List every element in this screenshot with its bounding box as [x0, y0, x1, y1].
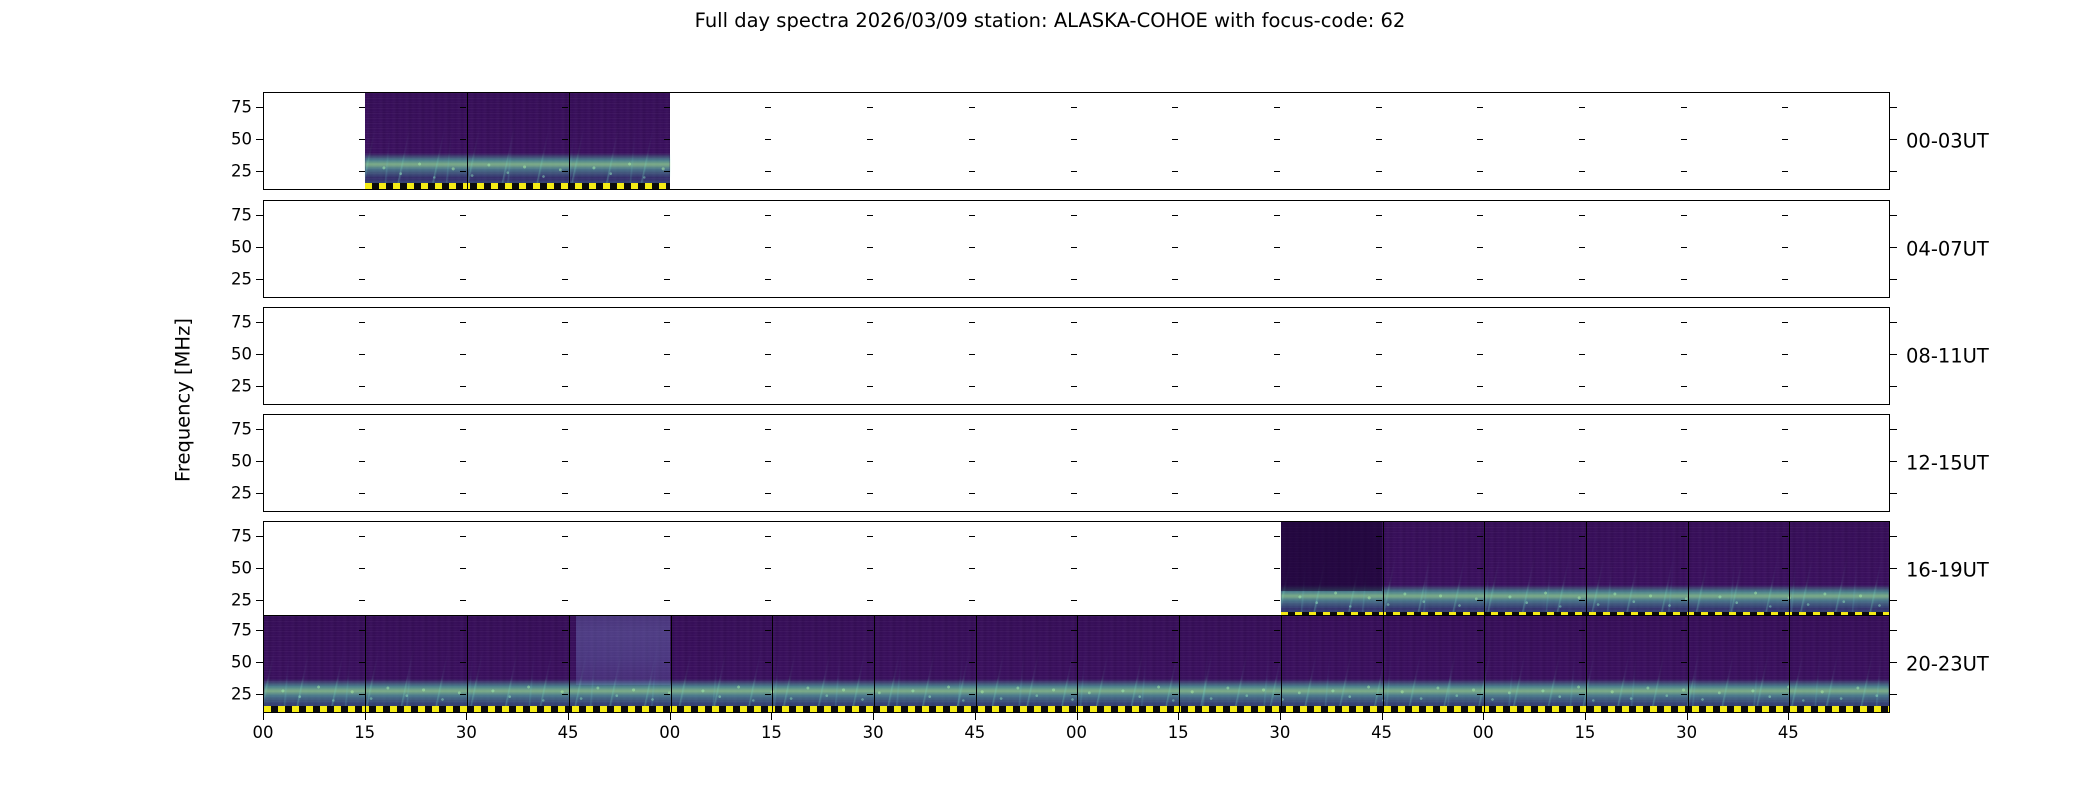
panel-inner-tick: [1274, 600, 1280, 601]
panel-inner-tick: [664, 568, 670, 569]
panel-inner-tick: [562, 600, 568, 601]
y-axis-tick: [256, 247, 263, 248]
panel-inner-tick: [1172, 107, 1178, 108]
panel-inner-tick: [1376, 247, 1382, 248]
x-axis-tick-label: 15: [761, 723, 782, 742]
figure-canvas: Full day spectra 2026/03/09 station: ALA…: [0, 0, 2100, 800]
panel-inner-tick: [765, 215, 771, 216]
panel-inner-tick: [1071, 600, 1077, 601]
panel-inner-tick: [1681, 322, 1687, 323]
panel-inner-tick: [460, 354, 466, 355]
y-axis-tick-label: 25: [208, 483, 252, 502]
panel-inner-tick: [1782, 600, 1788, 601]
panel-inner-tick: [969, 694, 975, 695]
panel-inner-tick: [1376, 279, 1382, 280]
y-axis-tick-label: 25: [208, 376, 252, 395]
panel-inner-tick: [1477, 662, 1483, 663]
x-axis-tick: [263, 713, 264, 720]
panel-inner-tick: [562, 354, 568, 355]
panel-inner-tick: [1274, 386, 1280, 387]
panel-inner-tick: [1172, 461, 1178, 462]
y-axis-tick: [256, 215, 263, 216]
panel-inner-tick: [1681, 630, 1687, 631]
panel-inner-tick: [460, 139, 466, 140]
panel-inner-tick: [1782, 215, 1788, 216]
panel-gridline: [1586, 616, 1587, 712]
panel-inner-tick: [1376, 139, 1382, 140]
panel-inner-tick: [1172, 694, 1178, 695]
y-axis-tick-right: [1890, 429, 1897, 430]
y-axis-tick-right: [1890, 568, 1897, 569]
panel-plot-area: [264, 616, 1889, 712]
panel-inner-tick: [1172, 215, 1178, 216]
panel-gridline: [671, 616, 672, 712]
panel-inner-tick: [1274, 171, 1280, 172]
panel-inner-tick: [359, 139, 365, 140]
x-axis-tick-label: 45: [1778, 723, 1799, 742]
panel-inner-tick: [1172, 568, 1178, 569]
panel-04-07UT[interactable]: [263, 200, 1890, 298]
panel-inner-tick: [359, 171, 365, 172]
panel-inner-tick: [562, 386, 568, 387]
panel-inner-tick: [562, 322, 568, 323]
panel-inner-tick: [867, 694, 873, 695]
panel-inner-tick: [867, 568, 873, 569]
panel-gridline: [1383, 522, 1384, 618]
panel-inner-tick: [1477, 386, 1483, 387]
panel-inner-tick: [969, 630, 975, 631]
panel-inner-tick: [1579, 600, 1585, 601]
panel-inner-tick: [1172, 322, 1178, 323]
panel-inner-tick: [1071, 215, 1077, 216]
panel-inner-tick: [664, 247, 670, 248]
panel-inner-tick: [969, 493, 975, 494]
panel-inner-tick: [1274, 279, 1280, 280]
panel-inner-tick: [765, 493, 771, 494]
y-axis-tick: [256, 536, 263, 537]
panel-inner-tick: [969, 354, 975, 355]
panel-inner-tick: [460, 461, 466, 462]
panel-inner-tick: [969, 536, 975, 537]
panel-row-label-12-15UT: 12-15UT: [1906, 452, 1989, 475]
panel-row-label-16-19UT: 16-19UT: [1906, 559, 1989, 582]
panel-inner-tick: [969, 600, 975, 601]
panel-inner-tick: [359, 107, 365, 108]
panel-inner-tick: [562, 662, 568, 663]
panel-inner-tick: [1579, 662, 1585, 663]
panel-inner-tick: [1376, 215, 1382, 216]
panel-inner-tick: [1681, 493, 1687, 494]
panel-inner-tick: [1681, 279, 1687, 280]
panel-inner-tick: [1376, 694, 1382, 695]
panel-inner-tick: [1172, 429, 1178, 430]
panel-inner-tick: [1477, 694, 1483, 695]
panel-inner-tick: [1477, 493, 1483, 494]
panel-inner-tick: [562, 461, 568, 462]
panel-inner-tick: [765, 279, 771, 280]
panel-inner-tick: [765, 139, 771, 140]
panel-inner-tick: [664, 107, 670, 108]
panel-inner-tick: [1071, 279, 1077, 280]
panel-inner-tick: [1681, 215, 1687, 216]
panel-inner-tick: [460, 630, 466, 631]
panel-inner-tick: [1376, 107, 1382, 108]
panel-gridline: [1688, 522, 1689, 618]
panel-inner-tick: [1477, 536, 1483, 537]
panel-inner-tick: [562, 247, 568, 248]
panel-inner-tick: [765, 354, 771, 355]
spectrogram-block: [365, 93, 670, 189]
panel-inner-tick: [1071, 171, 1077, 172]
panel-inner-tick: [1681, 662, 1687, 663]
panel-gridline: [1789, 522, 1790, 618]
panel-inner-tick: [562, 536, 568, 537]
panel-inner-tick: [460, 429, 466, 430]
y-axis-tick-right: [1890, 354, 1897, 355]
y-axis-tick: [256, 662, 263, 663]
panel-inner-tick: [664, 630, 670, 631]
y-axis-tick-label: 25: [208, 684, 252, 703]
panel-inner-tick: [1782, 694, 1788, 695]
panel-inner-tick: [1274, 322, 1280, 323]
panel-inner-tick: [1376, 429, 1382, 430]
y-axis-tick-label: 25: [208, 161, 252, 180]
panel-inner-tick: [765, 247, 771, 248]
panel-inner-tick: [1782, 536, 1788, 537]
panel-inner-tick: [1274, 493, 1280, 494]
y-axis-tick: [256, 493, 263, 494]
panel-gridline: [1383, 616, 1384, 712]
panel-inner-tick: [1477, 630, 1483, 631]
panel-inner-tick: [562, 107, 568, 108]
panel-inner-tick: [1477, 247, 1483, 248]
panel-plot-area: [264, 201, 1889, 297]
panel-inner-tick: [1681, 429, 1687, 430]
panel-inner-tick: [1477, 139, 1483, 140]
panel-inner-tick: [1274, 568, 1280, 569]
dark-subblock: [1281, 522, 1382, 591]
panel-inner-tick: [359, 536, 365, 537]
panel-inner-tick: [460, 279, 466, 280]
panel-inner-tick: [1579, 568, 1585, 569]
panel-inner-tick: [1172, 536, 1178, 537]
panel-inner-tick: [1172, 493, 1178, 494]
panel-inner-tick: [359, 568, 365, 569]
panel-inner-tick: [1782, 139, 1788, 140]
panel-inner-tick: [1579, 386, 1585, 387]
panel-inner-tick: [969, 429, 975, 430]
panel-inner-tick: [359, 247, 365, 248]
panel-inner-tick: [1376, 171, 1382, 172]
panel-inner-tick: [460, 322, 466, 323]
panel-plot-area: [264, 93, 1889, 189]
panel-inner-tick: [1681, 107, 1687, 108]
panel-inner-tick: [1782, 662, 1788, 663]
y-axis-tick-right: [1890, 536, 1897, 537]
panel-inner-tick: [765, 600, 771, 601]
panel-inner-tick: [664, 429, 670, 430]
panel-inner-tick: [359, 429, 365, 430]
panel-12-15UT[interactable]: [263, 414, 1890, 512]
x-axis-tick-label: 15: [1168, 723, 1189, 742]
panel-inner-tick: [1782, 247, 1788, 248]
panel-inner-tick: [969, 279, 975, 280]
y-axis-tick-label: 75: [208, 313, 252, 332]
panel-inner-tick: [1681, 568, 1687, 569]
panel-inner-tick: [1681, 139, 1687, 140]
panel-gridline: [1077, 616, 1078, 712]
panel-inner-tick: [969, 247, 975, 248]
x-axis-tick: [1077, 713, 1078, 720]
panel-inner-tick: [359, 322, 365, 323]
x-axis-tick: [568, 713, 569, 720]
panel-inner-tick: [1376, 568, 1382, 569]
panel-inner-tick: [867, 322, 873, 323]
x-axis-tick: [1178, 713, 1179, 720]
panel-inner-tick: [562, 493, 568, 494]
x-axis-tick-label: 00: [1473, 723, 1494, 742]
x-axis-tick-label: 45: [558, 723, 579, 742]
panel-inner-tick: [1579, 354, 1585, 355]
y-axis-tick-right: [1890, 461, 1897, 462]
y-axis-tick: [256, 322, 263, 323]
panel-gridline: [1484, 616, 1485, 712]
panel-row-label-04-07UT: 04-07UT: [1906, 238, 1989, 261]
panel-inner-tick: [1172, 662, 1178, 663]
y-axis-tick-label: 50: [208, 559, 252, 578]
panel-inner-tick: [1782, 171, 1788, 172]
panel-inner-tick: [867, 279, 873, 280]
y-axis-tick-label: 50: [208, 653, 252, 672]
panel-inner-tick: [969, 171, 975, 172]
panel-inner-tick: [1071, 630, 1077, 631]
panel-inner-tick: [765, 568, 771, 569]
panel-inner-tick: [1477, 354, 1483, 355]
panel-inner-tick: [359, 600, 365, 601]
panel-inner-tick: [359, 386, 365, 387]
x-axis-tick-label: 00: [659, 723, 680, 742]
panel-gridline: [976, 616, 977, 712]
panel-inner-tick: [1579, 630, 1585, 631]
panel-inner-tick: [664, 279, 670, 280]
panel-20-23UT[interactable]: [263, 615, 1890, 713]
panel-inner-tick: [562, 279, 568, 280]
panel-gridline: [467, 616, 468, 712]
panel-inner-tick: [867, 662, 873, 663]
panel-row-label-08-11UT: 08-11UT: [1906, 345, 1989, 368]
y-axis-tick-label: 50: [208, 130, 252, 149]
y-axis-tick: [256, 694, 263, 695]
panel-inner-tick: [765, 630, 771, 631]
panel-inner-tick: [1681, 354, 1687, 355]
spectrogram-block: [1281, 522, 1889, 618]
panel-inner-tick: [460, 662, 466, 663]
y-axis-tick-right: [1890, 322, 1897, 323]
panel-inner-tick: [1071, 247, 1077, 248]
panel-inner-tick: [1376, 536, 1382, 537]
panel-inner-tick: [460, 536, 466, 537]
panel-inner-tick: [1071, 354, 1077, 355]
panel-inner-tick: [1172, 247, 1178, 248]
panel-inner-tick: [867, 461, 873, 462]
panel-inner-tick: [664, 461, 670, 462]
panel-inner-tick: [1071, 536, 1077, 537]
panel-inner-tick: [1274, 536, 1280, 537]
y-axis-tick: [256, 386, 263, 387]
y-axis-tick-right: [1890, 694, 1897, 695]
panel-inner-tick: [1172, 386, 1178, 387]
y-axis-tick-right: [1890, 247, 1897, 248]
rfi-patch: [576, 616, 670, 685]
panel-inner-tick: [1681, 461, 1687, 462]
panel-gridline: [1789, 616, 1790, 712]
panel-inner-tick: [1071, 429, 1077, 430]
panel-inner-tick: [1274, 247, 1280, 248]
panel-inner-tick: [1274, 662, 1280, 663]
panel-inner-tick: [664, 322, 670, 323]
panel-inner-tick: [1681, 386, 1687, 387]
panel-inner-tick: [359, 354, 365, 355]
y-axis-tick-right: [1890, 107, 1897, 108]
panel-inner-tick: [664, 171, 670, 172]
panel-inner-tick: [1579, 171, 1585, 172]
x-axis-tick-label: 30: [456, 723, 477, 742]
panel-inner-tick: [1782, 107, 1788, 108]
panel-inner-tick: [867, 536, 873, 537]
panel-inner-tick: [765, 694, 771, 695]
panel-gridline: [874, 616, 875, 712]
panel-16-19UT[interactable]: [263, 521, 1890, 619]
y-axis-tick: [256, 568, 263, 569]
y-axis-tick: [256, 279, 263, 280]
panel-inner-tick: [867, 107, 873, 108]
panel-inner-tick: [867, 354, 873, 355]
panel-inner-tick: [359, 215, 365, 216]
panel-inner-tick: [1782, 568, 1788, 569]
panel-inner-tick: [1071, 694, 1077, 695]
panel-inner-tick: [867, 493, 873, 494]
panel-inner-tick: [1172, 630, 1178, 631]
panel-inner-tick: [460, 493, 466, 494]
panel-inner-tick: [1579, 107, 1585, 108]
panel-inner-tick: [359, 662, 365, 663]
panel-inner-tick: [1477, 107, 1483, 108]
x-axis-tick: [771, 713, 772, 720]
panel-inner-tick: [664, 662, 670, 663]
panel-00-03UT[interactable]: [263, 92, 1890, 190]
panel-inner-tick: [765, 461, 771, 462]
event-marker-strip: [365, 183, 670, 189]
panel-inner-tick: [460, 600, 466, 601]
panel-gridline: [467, 93, 468, 189]
panel-inner-tick: [562, 215, 568, 216]
panel-plot-area: [264, 308, 1889, 404]
panel-inner-tick: [1071, 386, 1077, 387]
panel-inner-tick: [867, 386, 873, 387]
y-axis-tick-right: [1890, 493, 1897, 494]
panel-inner-tick: [664, 354, 670, 355]
panel-inner-tick: [1274, 215, 1280, 216]
x-axis-tick: [670, 713, 671, 720]
panel-inner-tick: [664, 600, 670, 601]
panel-inner-tick: [1071, 461, 1077, 462]
panel-inner-tick: [1172, 139, 1178, 140]
panel-inner-tick: [359, 461, 365, 462]
panel-inner-tick: [460, 215, 466, 216]
panel-inner-tick: [1274, 107, 1280, 108]
panel-inner-tick: [1172, 600, 1178, 601]
panel-plot-area: [264, 522, 1889, 618]
panel-inner-tick: [359, 630, 365, 631]
panel-inner-tick: [1681, 600, 1687, 601]
x-axis-tick: [365, 713, 366, 720]
panel-inner-tick: [664, 215, 670, 216]
panel-inner-tick: [969, 461, 975, 462]
panel-inner-tick: [1681, 694, 1687, 695]
panel-inner-tick: [765, 107, 771, 108]
panel-inner-tick: [664, 386, 670, 387]
x-axis-tick-label: 45: [964, 723, 985, 742]
panel-inner-tick: [1376, 322, 1382, 323]
panel-inner-tick: [1477, 279, 1483, 280]
panel-inner-tick: [1579, 429, 1585, 430]
panel-inner-tick: [1579, 322, 1585, 323]
panel-inner-tick: [867, 429, 873, 430]
panel-gridline: [1179, 616, 1180, 712]
panel-inner-tick: [867, 600, 873, 601]
x-axis-tick-label: 45: [1371, 723, 1392, 742]
panel-inner-tick: [867, 630, 873, 631]
panel-inner-tick: [969, 662, 975, 663]
y-axis-tick-label: 50: [208, 345, 252, 364]
panel-inner-tick: [359, 493, 365, 494]
panel-inner-tick: [1477, 600, 1483, 601]
panel-inner-tick: [460, 171, 466, 172]
panel-gridline: [1281, 616, 1282, 712]
panel-gridline: [772, 616, 773, 712]
panel-inner-tick: [664, 536, 670, 537]
panel-inner-tick: [1477, 461, 1483, 462]
panel-inner-tick: [1172, 279, 1178, 280]
panel-inner-tick: [969, 107, 975, 108]
panel-row-label-20-23UT: 20-23UT: [1906, 653, 1989, 676]
y-axis-tick: [256, 171, 263, 172]
y-axis-tick-label: 75: [208, 420, 252, 439]
panel-gridline: [1484, 522, 1485, 618]
y-axis-tick-right: [1890, 139, 1897, 140]
panel-inner-tick: [765, 171, 771, 172]
y-axis-tick: [256, 354, 263, 355]
panel-inner-tick: [460, 568, 466, 569]
x-axis-tick-label: 15: [1574, 723, 1595, 742]
y-axis-tick-right: [1890, 662, 1897, 663]
panel-inner-tick: [1071, 107, 1077, 108]
y-axis-tick-label: 25: [208, 269, 252, 288]
x-axis-tick: [1788, 713, 1789, 720]
panel-inner-tick: [1579, 461, 1585, 462]
panel-inner-tick: [460, 694, 466, 695]
panel-inner-tick: [1579, 694, 1585, 695]
panel-inner-tick: [765, 322, 771, 323]
panel-inner-tick: [1579, 536, 1585, 537]
x-axis-tick-label: 00: [253, 723, 274, 742]
panel-inner-tick: [765, 662, 771, 663]
x-axis-tick: [1483, 713, 1484, 720]
panel-inner-tick: [1782, 461, 1788, 462]
panel-08-11UT[interactable]: [263, 307, 1890, 405]
x-axis-tick-label: 00: [1066, 723, 1087, 742]
panel-inner-tick: [1071, 493, 1077, 494]
